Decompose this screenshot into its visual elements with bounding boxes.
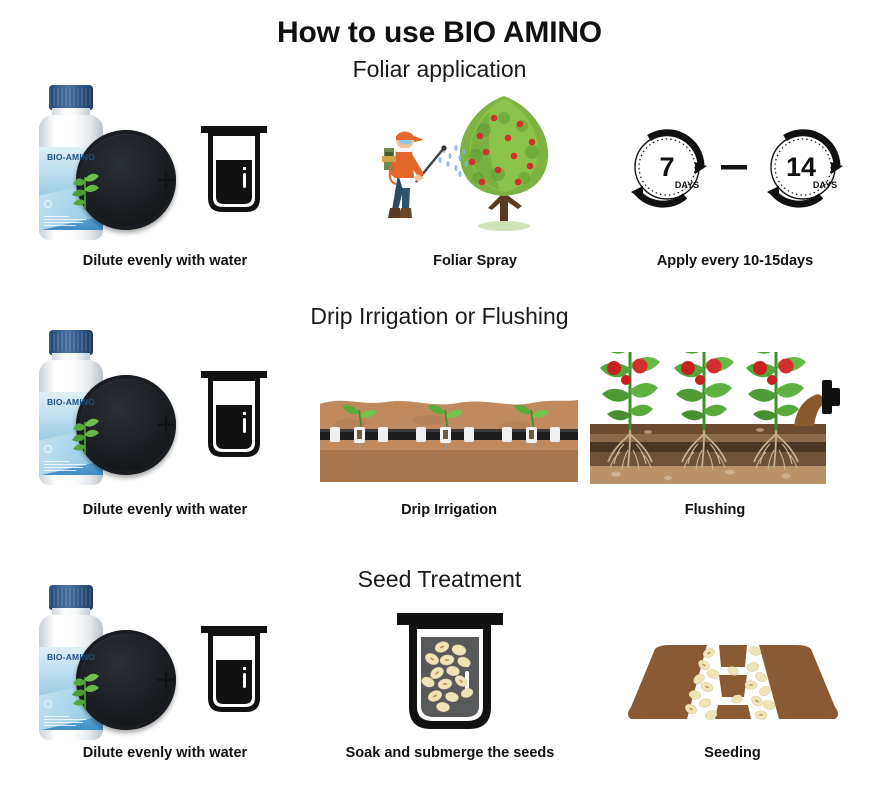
interval-first-number: 7 bbox=[659, 152, 674, 182]
flushing-illustration bbox=[590, 352, 840, 492]
certification-seal-icon bbox=[44, 200, 52, 208]
label-fine-print bbox=[44, 216, 90, 227]
tomato-roots-hose-icon bbox=[590, 352, 840, 492]
caption-foliar-spray: Foliar Spray bbox=[330, 253, 620, 269]
plus-symbol: + bbox=[156, 163, 176, 197]
drip-line-soil-icon bbox=[320, 372, 578, 487]
seeding-illustration bbox=[625, 627, 840, 732]
label-fine-print bbox=[44, 461, 90, 472]
section-heading-foliar: Foliar application bbox=[0, 56, 879, 83]
farmer-spraying-tree-icon bbox=[372, 90, 577, 235]
section-seed-row: BIO-AMINO + bbox=[0, 585, 879, 760]
caption-interval: Apply every 10-15days bbox=[615, 253, 855, 269]
bottle-cap bbox=[49, 330, 93, 355]
seed-soak-illustration bbox=[385, 607, 515, 735]
beaker-with-liquid-icon bbox=[193, 120, 275, 220]
bottle-cap bbox=[49, 85, 93, 110]
dilute-illustration-seed: BIO-AMINO + bbox=[18, 585, 283, 750]
interval-second-number: 14 bbox=[786, 152, 816, 182]
interval-clock-icon: 7 DAYS 14 DAYS bbox=[615, 120, 855, 215]
caption-dilute-foliar: Dilute evenly with water bbox=[0, 253, 330, 269]
interval-illustration: 7 DAYS 14 DAYS bbox=[615, 120, 855, 215]
section-foliar-row: BIO-AMINO + bbox=[0, 85, 879, 275]
caption-dilute-drip: Dilute evenly with water bbox=[0, 502, 330, 518]
certification-seal-icon bbox=[44, 700, 52, 708]
interval-second-unit: DAYS bbox=[813, 180, 837, 190]
plus-symbol: + bbox=[156, 663, 176, 697]
caption-flushing: Flushing bbox=[590, 502, 840, 518]
seeds-in-beaker-icon bbox=[385, 607, 515, 735]
caption-dilute-seed: Dilute evenly with water bbox=[0, 745, 330, 761]
drip-irrigation-illustration bbox=[320, 372, 578, 487]
plant-graphic-icon bbox=[69, 408, 101, 454]
page-title: How to use BIO AMINO bbox=[0, 16, 879, 50]
bottle-cap bbox=[49, 585, 93, 610]
interval-first-unit: DAYS bbox=[675, 180, 699, 190]
certification-seal-icon bbox=[44, 445, 52, 453]
label-fine-print bbox=[44, 716, 90, 727]
plant-graphic-icon bbox=[69, 163, 101, 209]
caption-drip: Drip Irrigation bbox=[320, 502, 578, 518]
brand-name: BIO-AMINO bbox=[39, 152, 103, 162]
section-drip-row: BIO-AMINO + bbox=[0, 330, 879, 525]
beaker-with-liquid-icon bbox=[193, 620, 275, 720]
section-heading-drip: Drip Irrigation or Flushing bbox=[0, 303, 879, 330]
dilute-illustration-drip: BIO-AMINO + bbox=[18, 330, 283, 495]
plus-symbol: + bbox=[156, 408, 176, 442]
seed-field-icon bbox=[625, 627, 840, 732]
dilute-illustration-foliar: BIO-AMINO + bbox=[18, 85, 283, 250]
caption-soak: Soak and submerge the seeds bbox=[330, 745, 570, 761]
infographic-page: How to use BIO AMINO Foliar application … bbox=[0, 0, 879, 800]
foliar-spray-illustration bbox=[372, 90, 577, 235]
plant-graphic-icon bbox=[69, 663, 101, 709]
brand-name: BIO-AMINO bbox=[39, 652, 103, 662]
caption-seeding: Seeding bbox=[625, 745, 840, 761]
interval-separator bbox=[721, 165, 747, 170]
beaker-with-liquid-icon bbox=[193, 365, 275, 465]
brand-name: BIO-AMINO bbox=[39, 397, 103, 407]
